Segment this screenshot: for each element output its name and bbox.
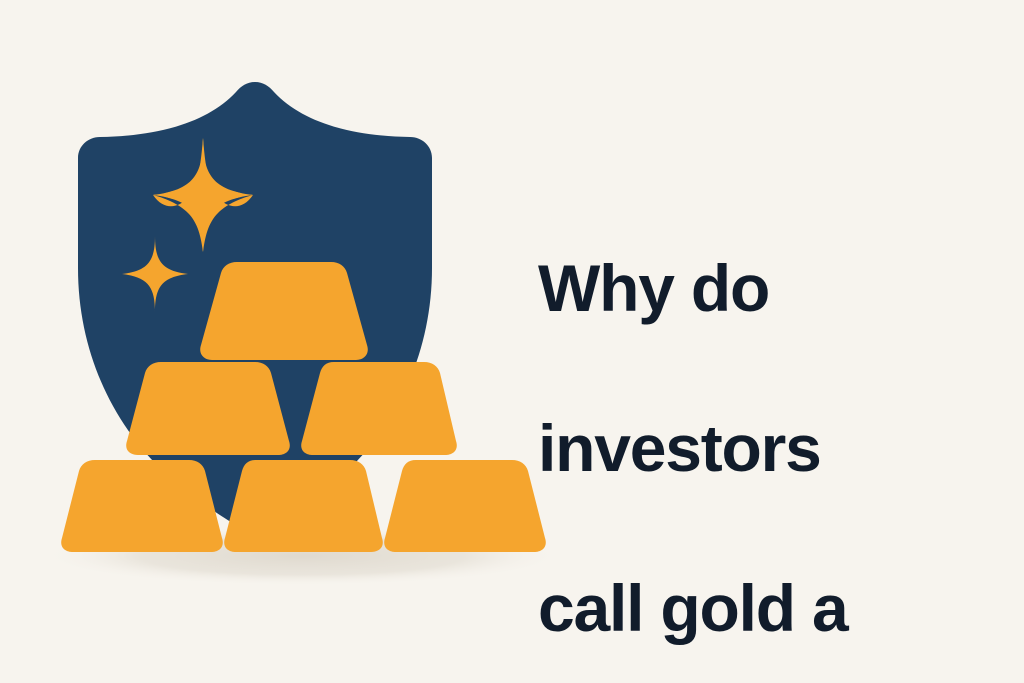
headline-line-2: investors bbox=[538, 408, 988, 488]
gold-bar-middle-right bbox=[301, 362, 457, 455]
page-title: Why do investors call gold a safe haven … bbox=[538, 168, 988, 683]
gold-bar-middle-left bbox=[126, 362, 290, 455]
headline-line-1: Why do bbox=[538, 248, 988, 328]
gold-bar-bottom-left bbox=[61, 460, 223, 552]
poster-canvas: Why do investors call gold a safe haven … bbox=[0, 0, 1024, 683]
gold-bar-bottom-center bbox=[224, 460, 383, 552]
gold-bar-bottom-right bbox=[384, 460, 546, 552]
headline-line-3: call gold a bbox=[538, 568, 988, 648]
gold-bars-shield-illustration bbox=[0, 0, 600, 683]
gold-bar-top bbox=[200, 262, 368, 360]
